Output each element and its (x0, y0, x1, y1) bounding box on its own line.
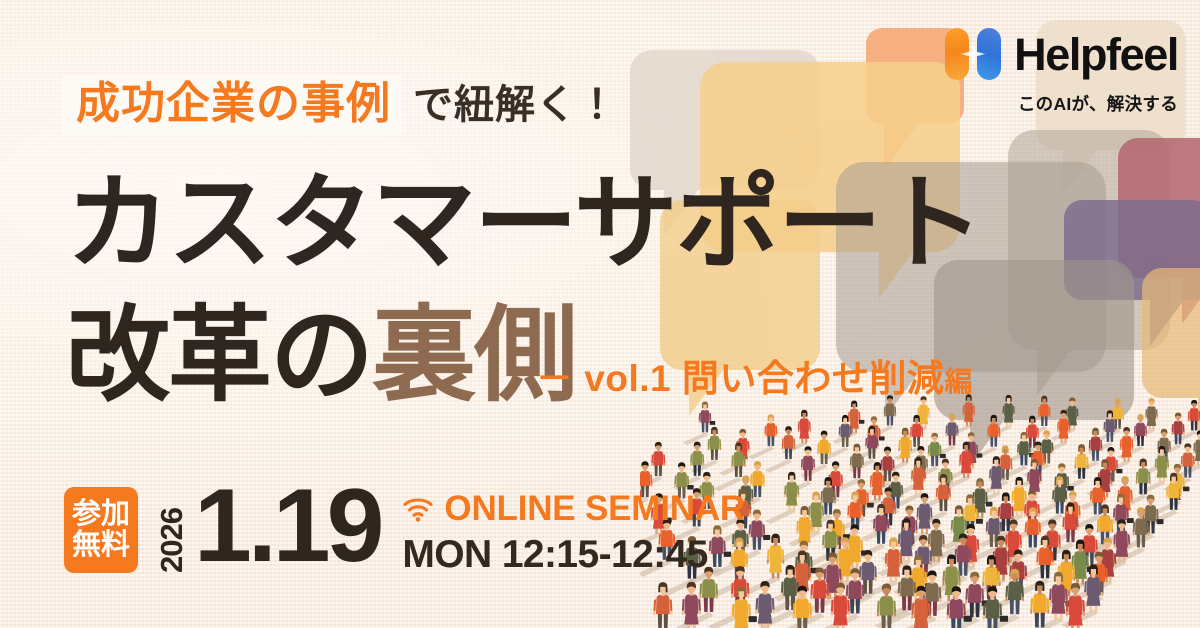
logo-row: Helpfeel (945, 26, 1178, 82)
event-day-time: MON 12:15-12:45 (402, 535, 745, 574)
crowd-person (1072, 428, 1103, 475)
wifi-icon (402, 496, 434, 522)
title-line-2-dark: 改革の (66, 304, 372, 408)
event-when: ONLINE SEMINAR MON 12:15-12:45 (402, 491, 745, 574)
eyebrow-highlight-text: 成功企業の事例 (62, 76, 401, 135)
helpfeel-h-mark-icon (945, 26, 1001, 82)
crowd-person (1118, 414, 1148, 459)
subtitle-suffix: 編 (944, 366, 973, 397)
event-year: 2026 (154, 491, 190, 573)
seminar-banner: Helpfeel このAIが、解決する 成功企業の事例 で紐解く！ カスタマーサ… (0, 0, 1200, 628)
crowd-person (640, 582, 673, 628)
subtitle: － vol.1 問い合わせ削減編 (536, 360, 973, 397)
eyebrow: 成功企業の事例 で紐解く！ (62, 76, 618, 135)
title-line-1: カスタマーサポート (66, 172, 982, 276)
event-date: 1.19 (194, 477, 380, 576)
logo-spark-icon (956, 37, 990, 71)
logo-tagline: このAIが、解決する (1018, 91, 1178, 116)
event-format: ONLINE SEMINAR (402, 491, 745, 526)
crowd-person (748, 414, 778, 459)
free-badge-line-2: 無料 (72, 530, 130, 561)
event-info-row: 参加 無料 2026 1.19 ONLINE SEMINAR MON 12:15… (64, 487, 745, 576)
title-line-2: 改革の 裏側 (66, 304, 576, 408)
helpfeel-logo[interactable]: Helpfeel このAIが、解決する (945, 26, 1178, 116)
crowd-person (765, 472, 799, 524)
bubble-gold-lowright (1142, 268, 1200, 398)
crowd-person (719, 429, 750, 476)
event-format-label: ONLINE SEMINAR (444, 491, 745, 526)
logo-wordmark: Helpfeel (1014, 32, 1178, 77)
eyebrow-rest-text: で紐解く！ (413, 85, 618, 125)
subtitle-main: － vol.1 問い合わせ削減 (536, 358, 944, 399)
free-badge-line-1: 参加 (72, 499, 130, 530)
crowd-person (714, 443, 746, 492)
free-admission-badge: 参加 無料 (64, 487, 138, 573)
